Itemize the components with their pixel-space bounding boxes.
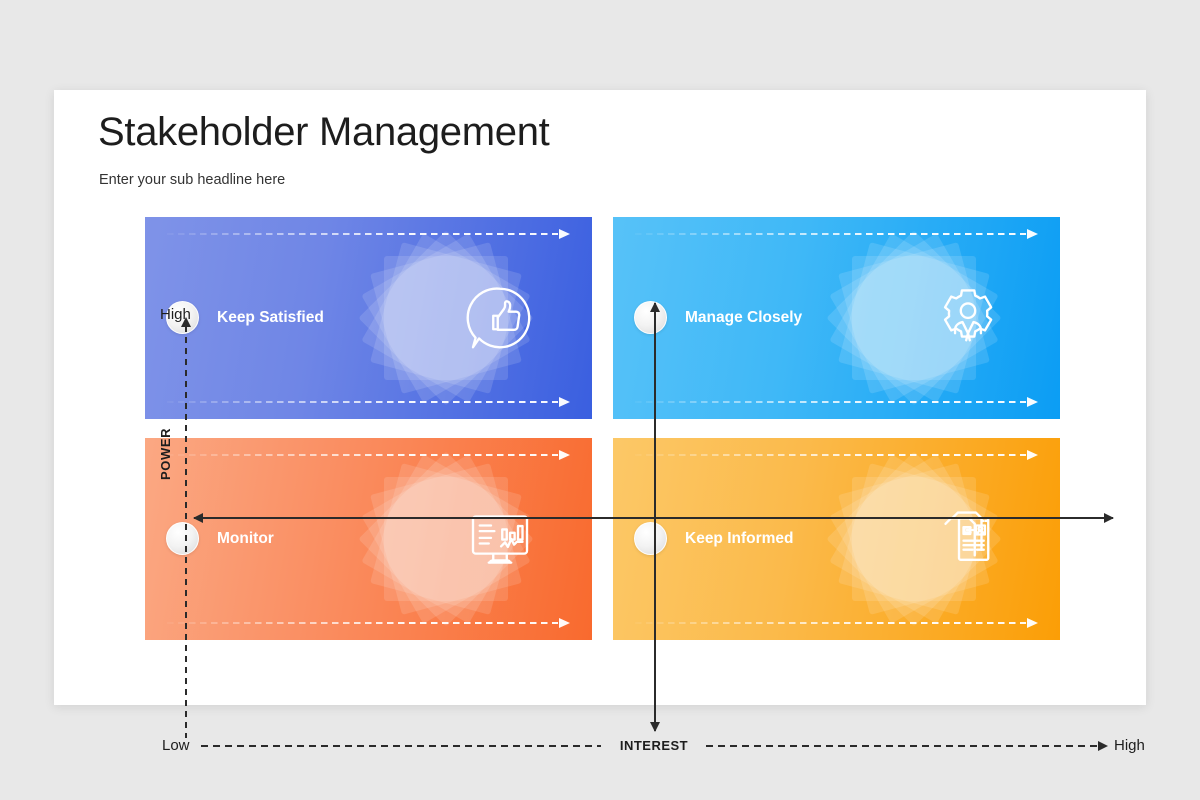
quadrant-manage-closely[interactable]: Manage Closely (613, 217, 1060, 419)
vertical-axis-line (654, 303, 656, 731)
power-axis-dashed-guide (185, 326, 187, 738)
quadrant-arrow-top (167, 450, 570, 460)
x-axis-dashed-right (706, 745, 1098, 747)
thumbs-up-speech-bubble-icon (464, 282, 536, 354)
page-subtitle: Enter your sub headline here (99, 172, 285, 188)
stakeholder-matrix: Keep Satisfied (145, 217, 1060, 640)
quadrant-label: Manage Closely (685, 309, 802, 327)
arrow-right-icon (1104, 513, 1114, 523)
monitor-dashboard-icon (464, 503, 536, 575)
quadrant-label: Monitor (217, 530, 274, 548)
quadrant-arrow-top (635, 229, 1038, 239)
y-axis-title: POWER (158, 428, 173, 480)
person-in-gear-icon (932, 282, 1004, 354)
quadrant-label: Keep Satisfied (217, 309, 324, 327)
quadrant-arrow-top (167, 229, 570, 239)
stacked-documents-icon (932, 503, 1004, 575)
slide-canvas: Stakeholder Management Enter your sub he… (54, 90, 1146, 705)
quadrant-keep-satisfied[interactable]: Keep Satisfied (145, 217, 592, 419)
x-axis-title: INTEREST (614, 738, 694, 753)
x-axis-high-label: High (1114, 737, 1145, 754)
x-axis-low-label: Low (162, 737, 190, 754)
quadrant-arrow-top (635, 450, 1038, 460)
page-title: Stakeholder Management (98, 110, 549, 155)
quadrant-arrow-bottom (635, 397, 1038, 407)
quadrant-arrow-bottom (167, 397, 570, 407)
quadrant-arrow-bottom (167, 618, 570, 628)
arrow-left-icon (193, 513, 203, 523)
quadrant-label: Keep Informed (685, 530, 794, 548)
quadrant-monitor[interactable]: Monitor (145, 438, 592, 640)
arrow-down-icon (650, 722, 660, 732)
quadrant-bullet (166, 522, 199, 555)
quadrant-keep-informed[interactable]: Keep Informed (613, 438, 1060, 640)
quadrant-bullet (634, 522, 667, 555)
quadrant-arrow-bottom (635, 618, 1038, 628)
arrow-up-icon (650, 302, 660, 312)
x-axis-dashed-left (201, 745, 601, 747)
y-axis-high-label: High (160, 306, 191, 323)
arrow-right-icon (1098, 741, 1108, 751)
